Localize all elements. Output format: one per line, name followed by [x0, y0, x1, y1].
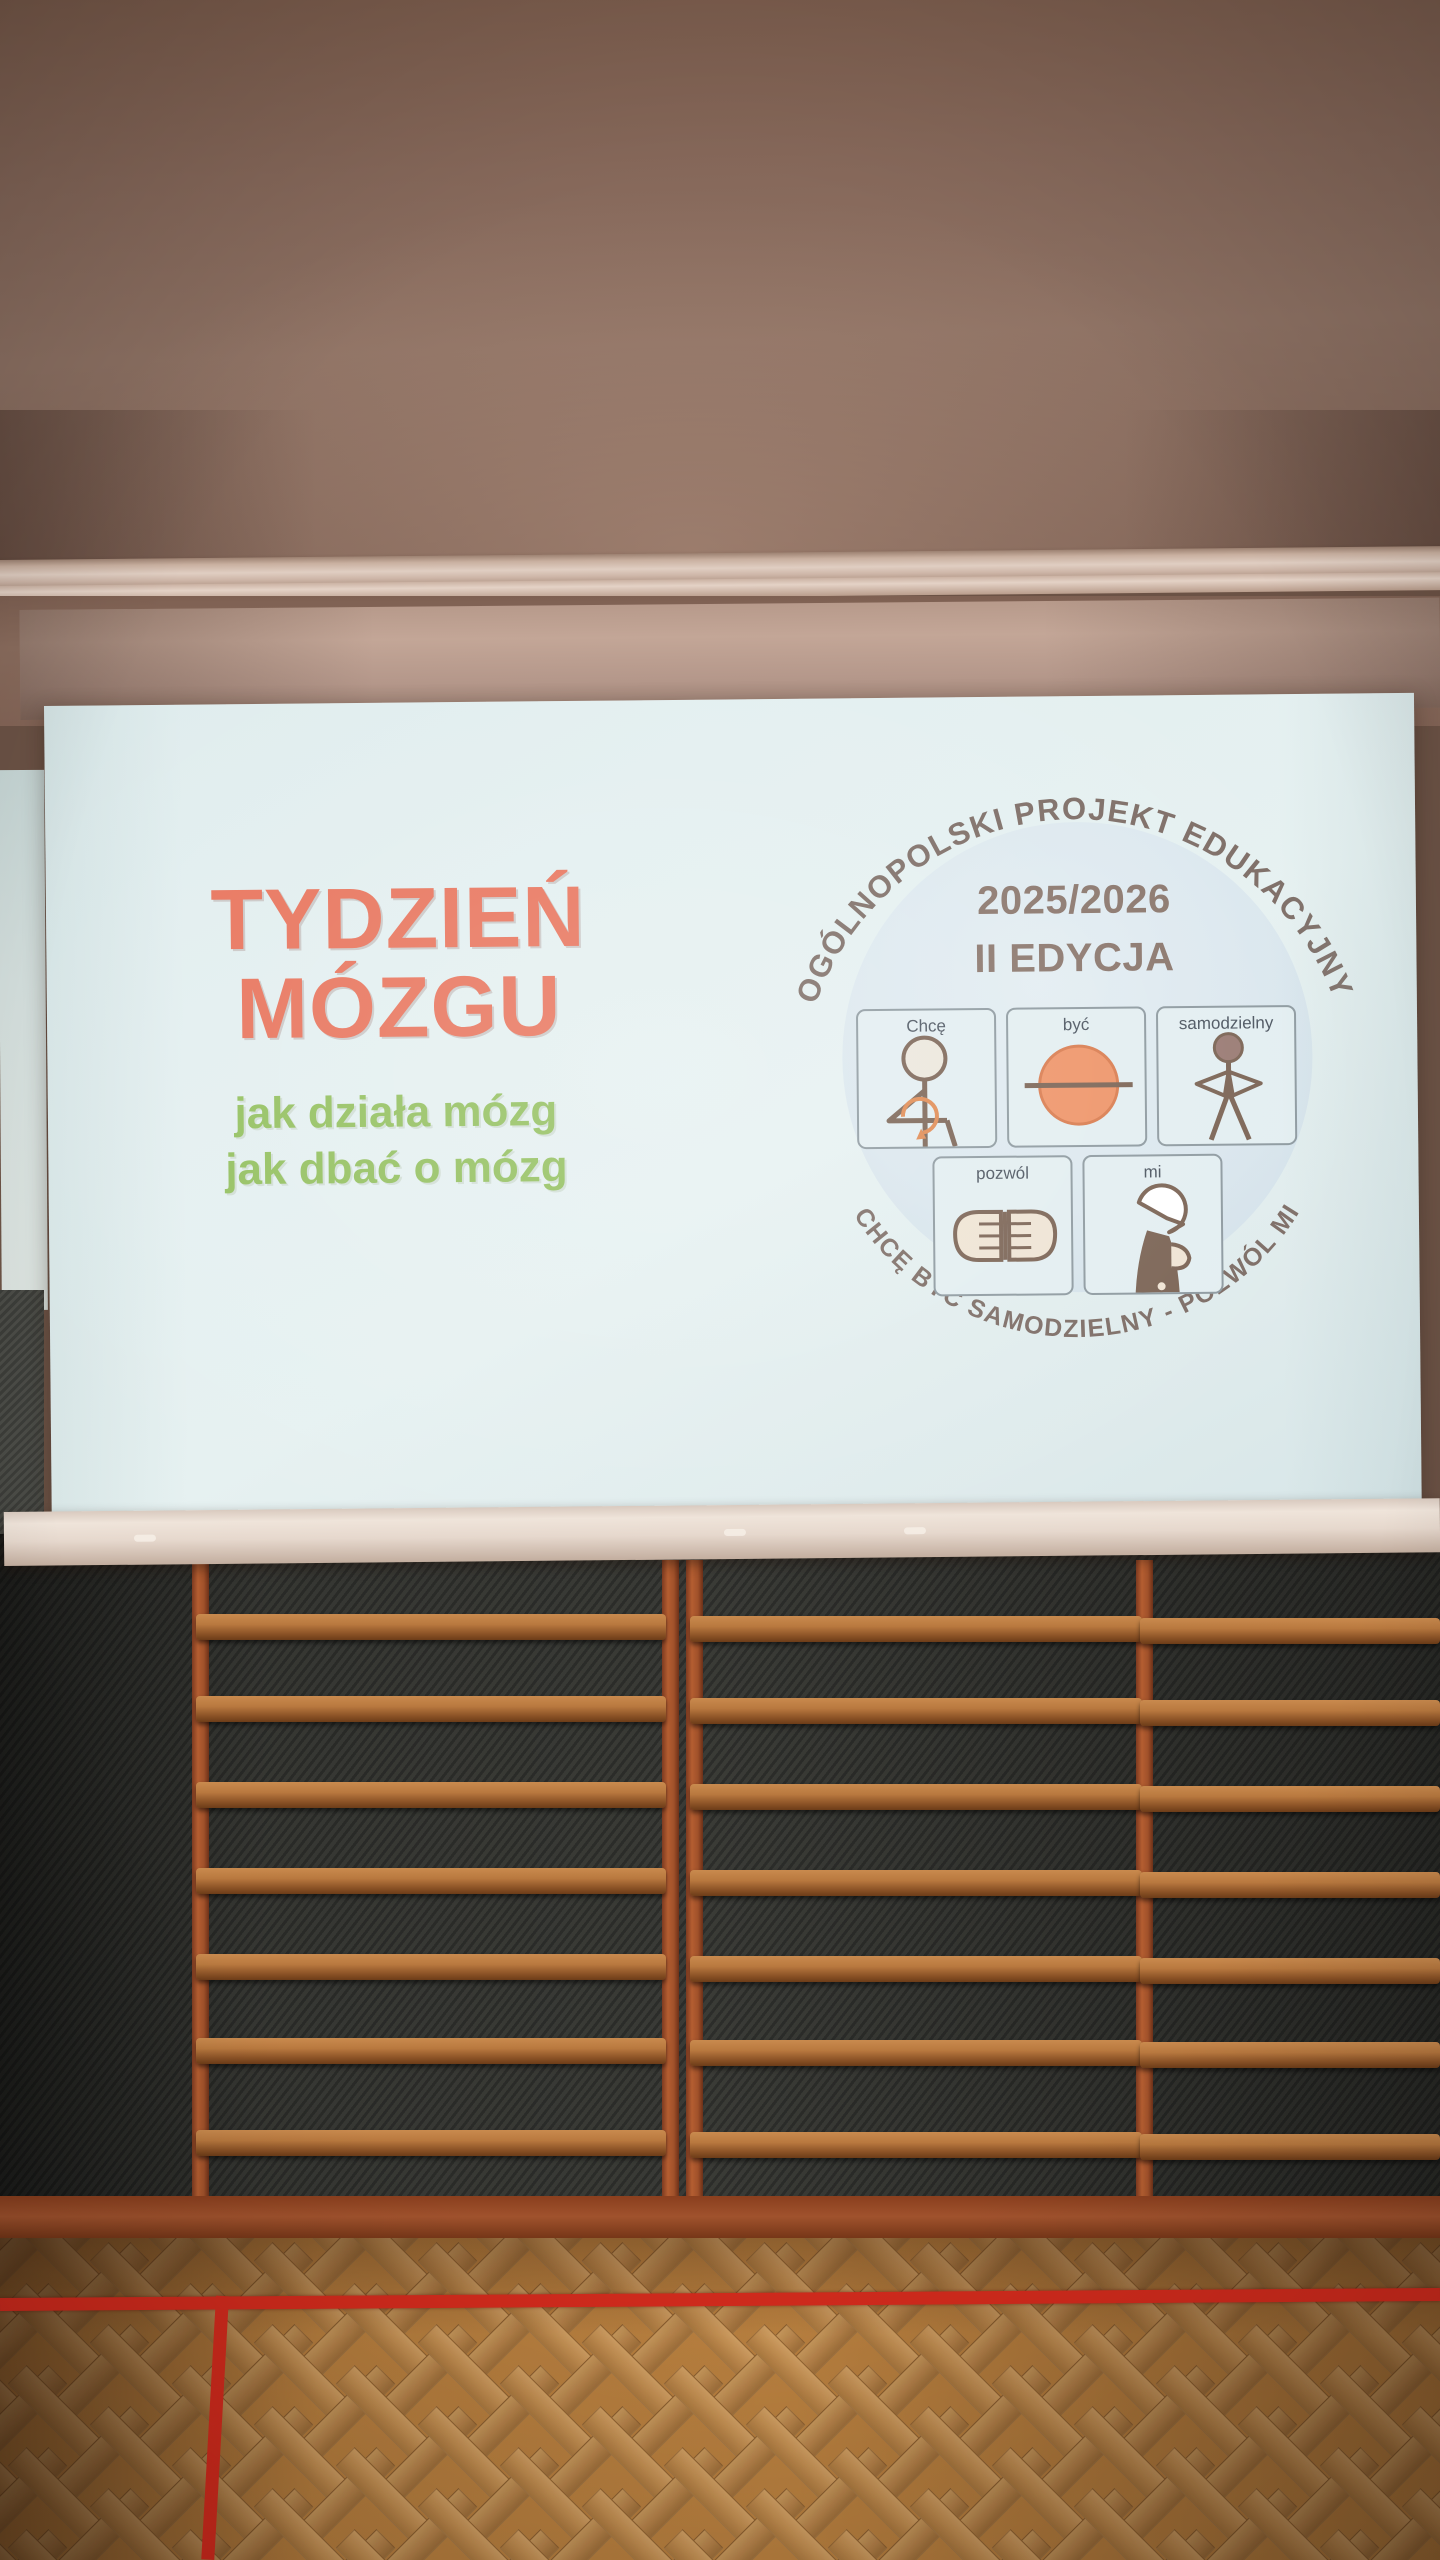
floor-baseboard [0, 2196, 1440, 2242]
slide-subtitle-line1: jak działa mózg [126, 1082, 667, 1143]
wall-bar-rung [1140, 1872, 1440, 1898]
slide-subtitle: jak działa mózg jak dbać o mózg [126, 1082, 667, 1200]
wall-bar-rung [690, 2132, 1142, 2158]
person-speaking-icon [1085, 1174, 1226, 1293]
rail-knob [134, 1535, 156, 1542]
wall-bar-rung [196, 1782, 666, 1808]
rail-knob [904, 1527, 926, 1534]
slide-title-line2: MÓZGU [139, 962, 660, 1056]
pictogram-pozwol: pozwól [932, 1155, 1073, 1296]
person-hands-on-hips-icon [1158, 1025, 1299, 1144]
wall-bar-rung [196, 2130, 666, 2156]
wall-bar-rung [690, 1956, 1142, 1982]
gymnastic-wall-bars [0, 1560, 1440, 2240]
wall-bar-rung [1140, 1786, 1440, 1812]
wall-bar-rung [1140, 2134, 1440, 2160]
slide-subtitle-line2: jak dbać o mózg [126, 1138, 667, 1199]
wall-bar-rung [196, 1954, 666, 1980]
pictogram-grid: Chcę być [856, 1005, 1299, 1297]
logo-edition: II EDYCJA [779, 933, 1369, 984]
pictogram-row-2: pozwól [857, 1153, 1298, 1297]
wall-bar-rung [196, 1614, 666, 1640]
rail-knob [724, 1529, 746, 1536]
wall-bar-rung [690, 1784, 1142, 1810]
wall-bar-rung [196, 1868, 666, 1894]
person-pointing-self-icon [858, 1028, 999, 1147]
slide-title-line1: TYDZIEŃ [210, 869, 586, 969]
wall-bar-rung [1140, 1700, 1440, 1726]
slide-title: TYDZIEŃ MÓZGU [138, 872, 660, 1056]
wall-bar-rung [690, 1870, 1142, 1896]
wall-bar-rung [690, 2040, 1142, 2066]
room-scene: TYDZIEŃ MÓZGU jak działa mózg jak dbać o… [0, 0, 1440, 2560]
upper-wall [0, 0, 1440, 580]
projector-light-spill [0, 770, 48, 1310]
wall-bar-rung [1140, 1958, 1440, 1984]
wall-bar-rung [690, 1616, 1142, 1642]
pictogram-chce: Chcę [856, 1008, 997, 1149]
logo-year: 2025/2026 [779, 875, 1369, 926]
orange-circle-icon [1008, 1026, 1149, 1145]
projection-screen: TYDZIEŃ MÓZGU jak działa mózg jak dbać o… [44, 693, 1422, 1536]
wall-bar-rung [1140, 2042, 1440, 2068]
pictogram-row-1: Chcę być [856, 1005, 1297, 1149]
wall-bar-rung [196, 1696, 666, 1722]
wall-bar-rung [1140, 1618, 1440, 1644]
project-logo: OGÓLNOPOLSKI PROJEKT EDUKACYJNY CHCĘ BYĆ… [778, 771, 1374, 1367]
wall-bar-rung [196, 2038, 666, 2064]
pictogram-mi: mi [1082, 1154, 1223, 1295]
pictogram-samodzielny: samodzielny [1156, 1005, 1297, 1146]
wall-bar-rung [690, 1698, 1142, 1724]
open-hands-icon [935, 1175, 1076, 1294]
pictogram-byc: być [1006, 1006, 1147, 1147]
projected-slide: TYDZIEŃ MÓZGU jak działa mózg jak dbać o… [44, 693, 1422, 1536]
